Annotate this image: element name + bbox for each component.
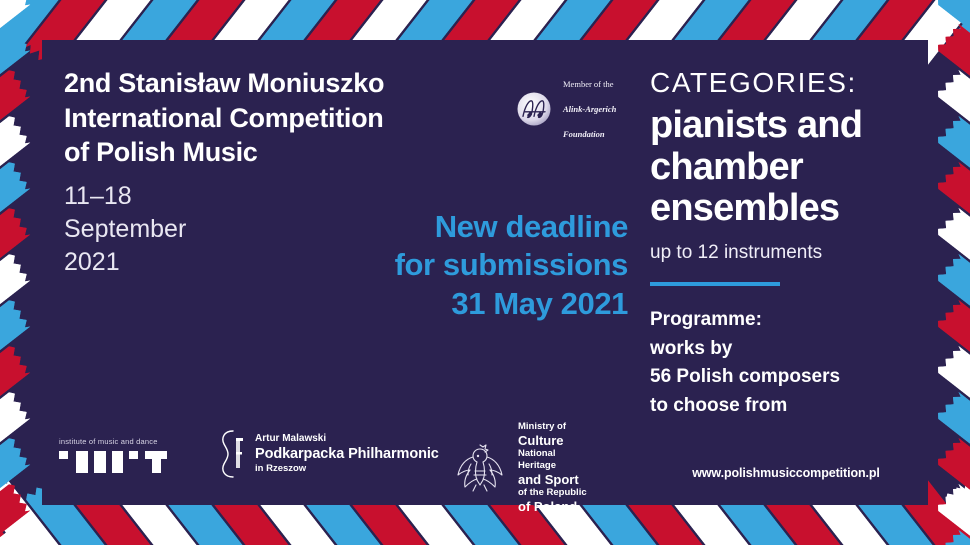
alink-line-1: Member of the (563, 78, 616, 90)
alink-argerich-badge: Member of the Alink-Argerich Foundation (512, 66, 616, 152)
ministry-line-1: Ministry of (518, 421, 587, 433)
ministry-line-2: Culture (518, 433, 587, 449)
institute-caption: institute of music and dance (59, 437, 167, 446)
polish-eagle-icon (452, 437, 508, 499)
ministry-line-3: National (518, 448, 587, 460)
programme-info: Programme: works by 56 Polish composers … (650, 306, 940, 420)
alink-badge-text: Member of the Alink-Argerich Foundation (563, 66, 616, 152)
logo-ministry-of-culture: Ministry of Culture National Heritage an… (452, 421, 587, 515)
page-title: 2nd Stanisław Moniuszko International Co… (64, 66, 484, 170)
philharmonic-line-1: Artur Malawski (255, 433, 439, 446)
philharmonic-line-3: in Rzeszow (255, 463, 439, 475)
alink-line-3: Foundation (563, 128, 616, 140)
logo-institute-of-music-and-dance: institute of music and dance (59, 437, 167, 478)
ministry-line-6: of the Republic (518, 487, 587, 499)
categories-column: CATEGORIES: pianists and chamber ensembl… (650, 68, 940, 420)
website-url[interactable]: www.polishmusiccompetition.pl (650, 466, 922, 480)
instruments-note: up to 12 instruments (650, 242, 940, 264)
ministry-text: Ministry of Culture National Heritage an… (518, 421, 587, 515)
imd-blocks-icon (59, 451, 167, 473)
philharmonic-line-2: Podkarpacka Philharmonic (255, 445, 439, 463)
ministry-line-4: Heritage (518, 460, 587, 472)
section-divider (650, 282, 780, 286)
poster: 2nd Stanisław Moniuszko International Co… (0, 0, 970, 545)
ministry-line-5: and Sport (518, 472, 587, 488)
alink-line-2: Alink-Argerich (563, 103, 616, 115)
cello-scroll-icon (216, 428, 246, 480)
ministry-line-7: of Poland. (518, 499, 587, 515)
philharmonic-text: Artur Malawski Podkarpacka Philharmonic … (255, 433, 439, 476)
categories-list: pianists and chamber ensembles (650, 105, 940, 230)
categories-label: CATEGORIES: (650, 68, 940, 99)
aa-monogram-icon (512, 87, 556, 131)
deadline-notice: New deadline for submissions 31 May 2021 (300, 208, 628, 323)
logo-podkarpacka-philharmonic: Artur Malawski Podkarpacka Philharmonic … (216, 428, 439, 480)
